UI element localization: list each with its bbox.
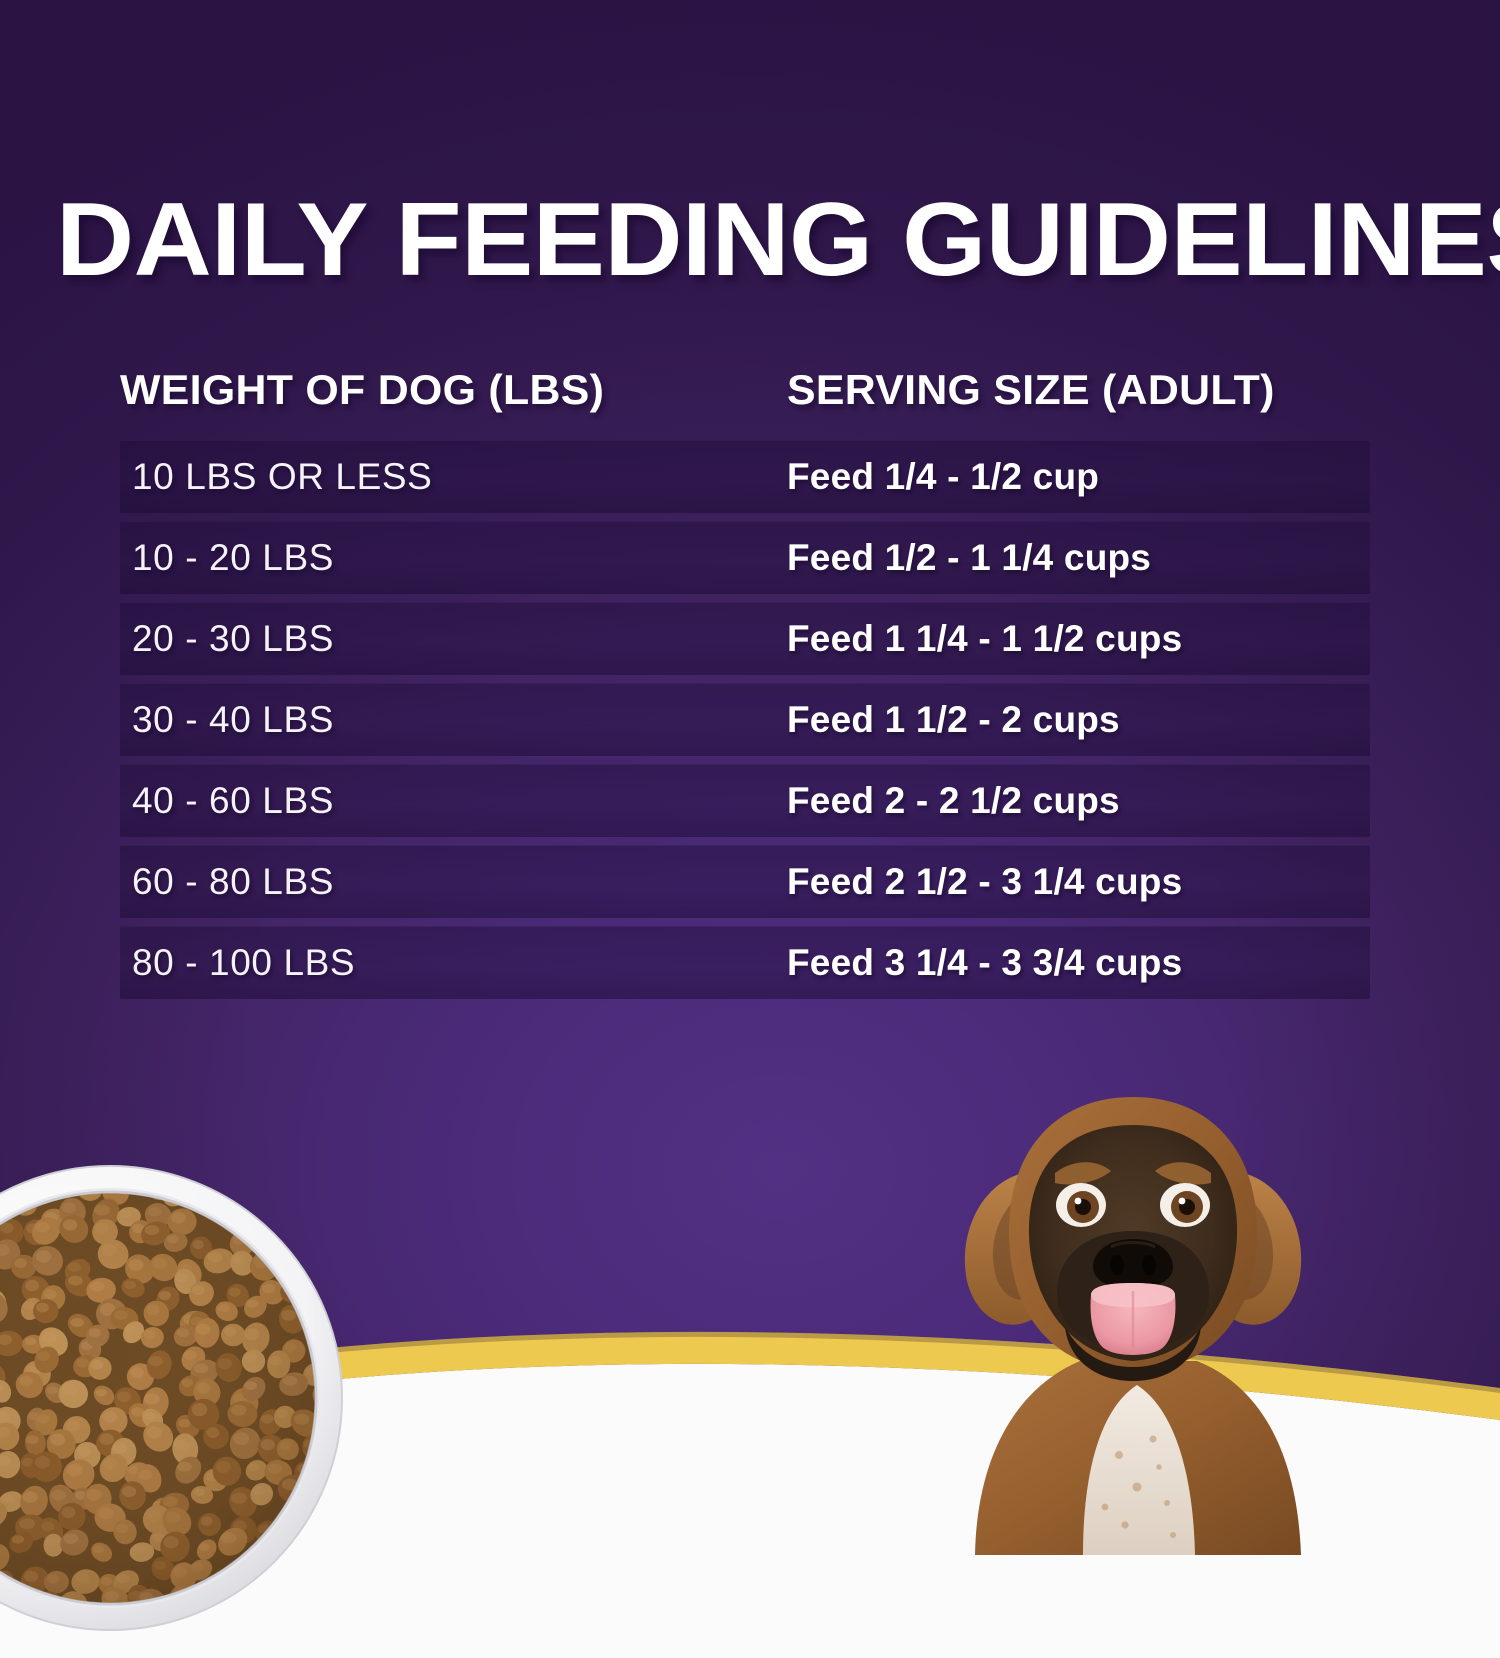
table-row: 40 - 60 LBS Feed 2 - 2 1/2 cups: [120, 764, 1370, 837]
column-header-weight: WEIGHT OF DOG (LBS): [120, 368, 800, 412]
cell-serving: Feed 1/4 - 1/2 cup: [787, 457, 1370, 497]
table-row: 60 - 80 LBS Feed 2 1/2 - 3 1/4 cups: [120, 845, 1370, 918]
cell-serving: Feed 1 1/4 - 1 1/2 cups: [787, 619, 1370, 659]
table-body: 10 LBS OR LESS Feed 1/4 - 1/2 cup 10 - 2…: [120, 440, 1370, 999]
cell-weight: 10 - 20 LBS: [120, 538, 787, 578]
column-header-serving: SERVING SIZE (ADULT): [787, 368, 1382, 412]
cell-serving: Feed 3 1/4 - 3 3/4 cups: [787, 943, 1370, 983]
kibble-bowl-image: [0, 1138, 370, 1658]
page-title: DAILY FEEDING GUIDELINES: [56, 188, 1500, 292]
cell-weight: 10 LBS OR LESS: [120, 457, 787, 497]
cell-weight: 40 - 60 LBS: [120, 781, 787, 821]
cell-serving: Feed 1/2 - 1 1/4 cups: [787, 538, 1370, 578]
table-row: 10 - 20 LBS Feed 1/2 - 1 1/4 cups: [120, 521, 1370, 594]
cell-weight: 20 - 30 LBS: [120, 619, 787, 659]
cell-serving: Feed 2 1/2 - 3 1/4 cups: [787, 862, 1370, 902]
feeding-guidelines-table: WEIGHT OF DOG (LBS) SERVING SIZE (ADULT)…: [120, 358, 1370, 1007]
cell-weight: 30 - 40 LBS: [120, 700, 787, 740]
cell-weight: 60 - 80 LBS: [120, 862, 787, 902]
cell-serving: Feed 2 - 2 1/2 cups: [787, 781, 1370, 821]
cell-serving: Feed 1 1/2 - 2 cups: [787, 700, 1370, 740]
cell-weight: 80 - 100 LBS: [120, 943, 787, 983]
table-row: 80 - 100 LBS Feed 3 1/4 - 3 3/4 cups: [120, 926, 1370, 999]
table-header-row: WEIGHT OF DOG (LBS) SERVING SIZE (ADULT): [120, 358, 1370, 422]
table-row: 20 - 30 LBS Feed 1 1/4 - 1 1/2 cups: [120, 602, 1370, 675]
table-row: 10 LBS OR LESS Feed 1/4 - 1/2 cup: [120, 440, 1370, 513]
boxer-dog-image: [905, 1055, 1360, 1555]
table-row: 30 - 40 LBS Feed 1 1/2 - 2 cups: [120, 683, 1370, 756]
